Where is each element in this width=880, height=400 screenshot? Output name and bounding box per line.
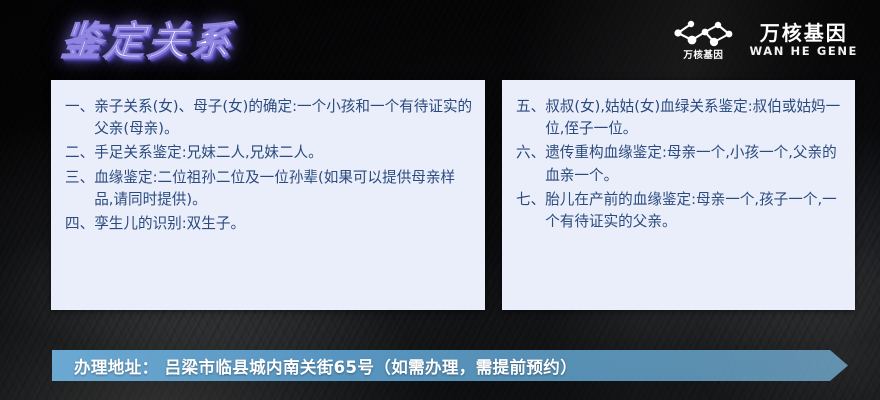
address-banner: 办理地址： 吕梁市临县城内南关街65号（如需办理，需提前预约） bbox=[52, 350, 848, 381]
list-item-text: 血缘鉴定:二位祖孙二位及一位孙辈(如果可以提供母亲样品,请同时提供)。 bbox=[94, 167, 473, 211]
list-item: 五、 叔叔(女),姑姑(女)血绿关系鉴定:叔伯或姑妈一位,侄子一位。 bbox=[516, 96, 843, 140]
list-item-text: 胎儿在产前的血缘鉴定:母亲一个,孩子一个,一个有待证实的父亲。 bbox=[545, 189, 843, 233]
list-item: 三、 血缘鉴定:二位祖孙二位及一位孙辈(如果可以提供母亲样品,请同时提供)。 bbox=[65, 167, 473, 211]
address-text: 办理地址： 吕梁市临县城内南关街65号（如需办理，需提前预约） bbox=[74, 350, 577, 381]
list-item-number: 六、 bbox=[516, 142, 545, 164]
slide-canvas: 鉴定关系 bbox=[0, 0, 880, 400]
service-list-panel-right: 五、 叔叔(女),姑姑(女)血绿关系鉴定:叔伯或姑妈一位,侄子一位。 六、 遗传… bbox=[502, 80, 855, 310]
page-title: 鉴定关系 bbox=[59, 9, 237, 67]
list-item-text: 手足关系鉴定:兄妹二人,兄妹二人。 bbox=[94, 142, 473, 164]
molecule-icon bbox=[671, 19, 735, 49]
brand-logo: 万核基因 万核基因 WAN HE GENE bbox=[671, 14, 858, 66]
list-item-number: 四、 bbox=[65, 213, 94, 235]
list-item-text: 孪生儿的识别:双生子。 bbox=[94, 213, 473, 235]
list-item-number: 七、 bbox=[516, 189, 545, 211]
list-item-number: 三、 bbox=[65, 167, 94, 189]
logo-mark-label: 万核基因 bbox=[683, 51, 723, 61]
list-item-text: 遗传重构血缘鉴定:母亲一个,小孩一个,父亲的血亲一个。 bbox=[545, 142, 843, 186]
brand-name-en: WAN HE GENE bbox=[749, 46, 858, 58]
list-item-text: 叔叔(女),姑姑(女)血绿关系鉴定:叔伯或姑妈一位,侄子一位。 bbox=[545, 96, 843, 140]
brand-name-cn: 万核基因 bbox=[760, 23, 848, 43]
list-item-number: 二、 bbox=[65, 142, 94, 164]
logo-mark: 万核基因 bbox=[671, 19, 735, 61]
list-item: 七、 胎儿在产前的血缘鉴定:母亲一个,孩子一个,一个有待证实的父亲。 bbox=[516, 189, 843, 233]
list-item-number: 一、 bbox=[65, 96, 94, 118]
list-item-number: 五、 bbox=[516, 96, 545, 118]
list-item: 一、 亲子关系(女)、母子(女)的确定:一个小孩和一个有待证实的父亲(母亲)。 bbox=[65, 96, 473, 140]
list-item: 二、 手足关系鉴定:兄妹二人,兄妹二人。 bbox=[65, 142, 473, 164]
list-item: 六、 遗传重构血缘鉴定:母亲一个,小孩一个,父亲的血亲一个。 bbox=[516, 142, 843, 186]
header-bar: 鉴定关系 bbox=[0, 0, 880, 80]
list-item: 四、 孪生儿的识别:双生子。 bbox=[65, 213, 473, 235]
list-item-text: 亲子关系(女)、母子(女)的确定:一个小孩和一个有待证实的父亲(母亲)。 bbox=[94, 96, 473, 140]
service-list-panel-left: 一、 亲子关系(女)、母子(女)的确定:一个小孩和一个有待证实的父亲(母亲)。 … bbox=[51, 80, 485, 310]
logo-wordmark: 万核基因 WAN HE GENE bbox=[749, 23, 858, 58]
